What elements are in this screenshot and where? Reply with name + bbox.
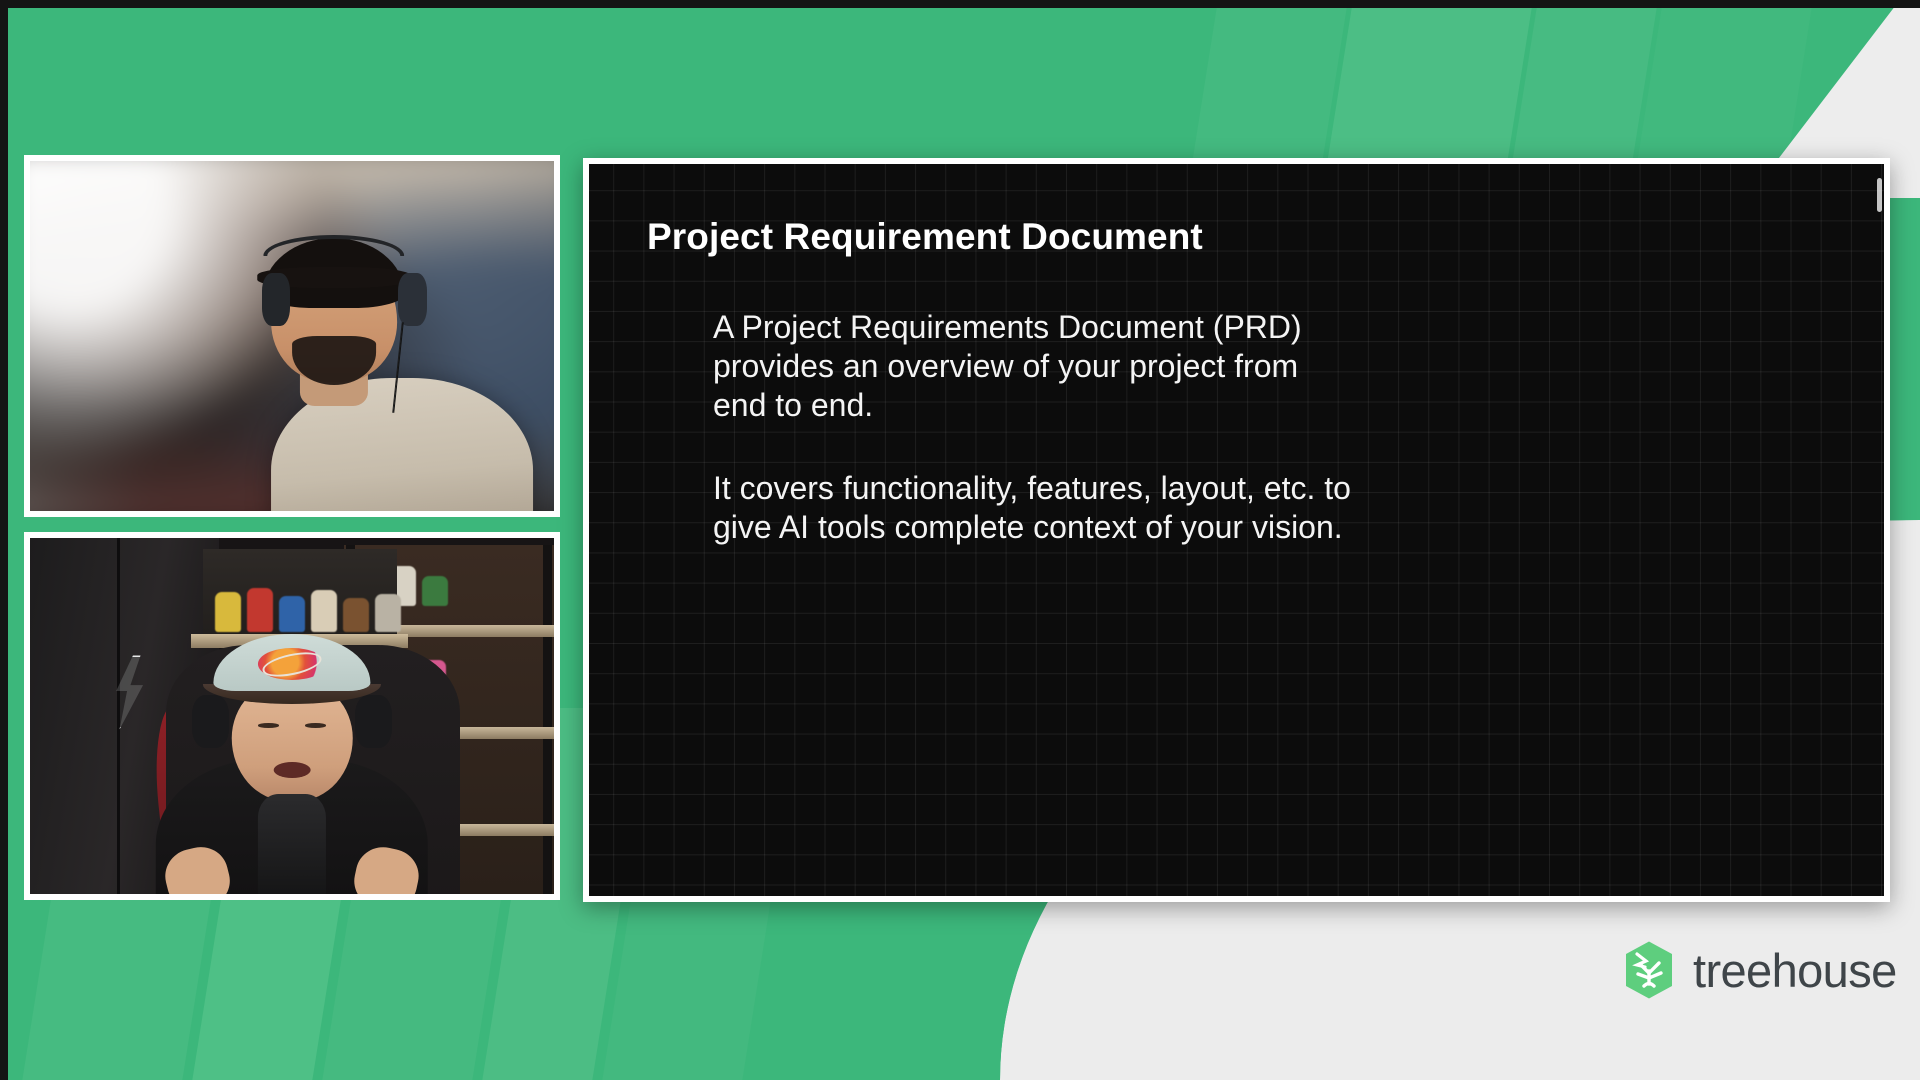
cap-logo-icon (258, 648, 326, 680)
screen-capture: Project Requirement Document A Project R… (0, 0, 1920, 1080)
slide-paragraph-line: It covers functionality, features, layou… (713, 469, 1473, 508)
shared-slide-panel[interactable]: Project Requirement Document A Project R… (583, 158, 1890, 902)
collectible-figure (343, 598, 369, 632)
headphones-earcup (398, 273, 427, 326)
participant-video-top-frame (30, 161, 554, 511)
treehouse-hexagon-icon (1622, 940, 1676, 1000)
capture-edge-left (0, 0, 8, 1080)
person-eye (305, 723, 326, 728)
collectible-figure (422, 576, 448, 606)
shelf-post (543, 545, 552, 894)
participant-video-top[interactable] (24, 155, 560, 517)
headphones-earcup (192, 695, 229, 748)
collectible-figure (375, 594, 401, 632)
slide-paragraph: A Project Requirements Document (PRD) pr… (713, 308, 1473, 425)
slide-paragraph-line: A Project Requirements Document (PRD) (713, 308, 1473, 347)
slide-paragraph-line: end to end. (713, 386, 1473, 425)
treehouse-wordmark: treehouse (1693, 947, 1897, 994)
capture-edge-top (0, 0, 1920, 8)
microphone-icon (258, 794, 326, 894)
collectible-figure (311, 590, 337, 632)
slide-body: A Project Requirements Document (PRD) pr… (713, 308, 1824, 547)
participant-video-bottom[interactable] (24, 532, 560, 900)
participant-video-bottom-frame (30, 538, 554, 894)
collectible-figure (215, 592, 241, 632)
person-eye (258, 723, 279, 728)
headphones-earcup (262, 273, 291, 326)
slide-paragraph: It covers functionality, features, layou… (713, 469, 1473, 547)
collectible-figure (247, 588, 273, 632)
person-mouth (274, 762, 311, 778)
headphones-earcup (355, 695, 392, 748)
slide-paragraph-line: provides an overview of your project fro… (713, 347, 1473, 386)
slide-paragraph-line: give AI tools complete context of your v… (713, 508, 1473, 547)
slide-content: Project Requirement Document A Project R… (589, 164, 1884, 896)
collectible-figure (279, 596, 305, 632)
treehouse-logo: treehouse (1622, 940, 1897, 1000)
slide-title: Project Requirement Document (647, 216, 1824, 258)
